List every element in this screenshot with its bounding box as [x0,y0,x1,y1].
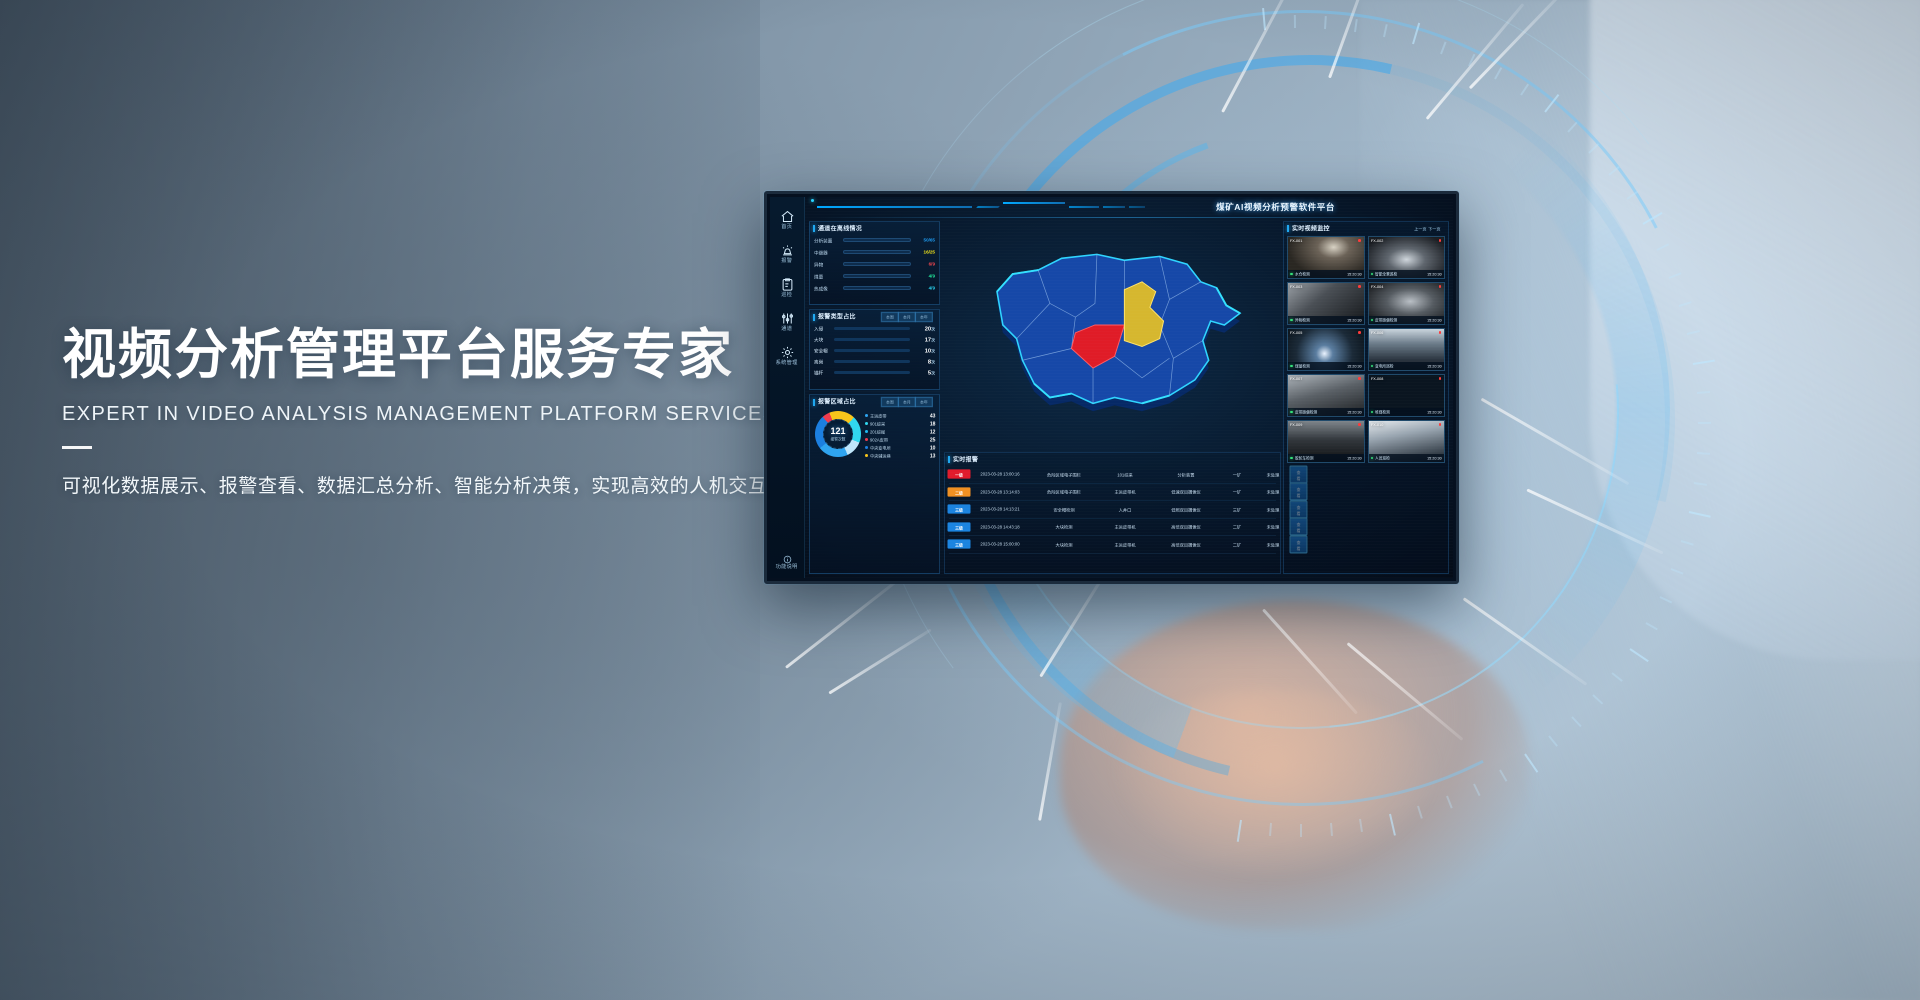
tab-year[interactable]: 本年 [915,312,933,322]
channel-progress-track [843,262,911,266]
camera-name: FX-003 [1290,284,1302,289]
alarm-type-title: 报警类型占比 [818,313,856,322]
channel-panel-header: 通道在离线情况 [810,222,939,234]
alarm-area-chart: 121 报警次数 主运皮带43901综采18201综掘12902A皮带25中央变… [810,408,939,458]
next-page-button[interactable]: 下一页 [1429,225,1441,232]
dashboard-main: 煤矿AI视频分析预警软件平台 通道在离线情况 分析装置50/65中继器16/25… [805,197,1453,578]
alarm-area-panel: 报警区域占比 本周 本月 本年 121 报警次数 主运皮带43901综采18 [809,394,940,574]
realtime-alarm-header: 实时报警 [945,453,1280,465]
camera-tile[interactable]: FX-006变电所巡检15:20:30 [1368,328,1446,371]
alarm-type-row: 大块17次 [810,334,939,345]
panel-accent-bar [1287,225,1289,232]
sidebar-item-alarm[interactable]: 报警 [780,243,795,264]
table-row: 三级2023-03-28 14:13:21安全帽检测入井口低照双目摄像仪三矿未处… [949,501,1276,519]
camera-tile[interactable]: FX-002智能全景巡检15:20:30 [1368,236,1446,279]
channel-status-panel: 通道在离线情况 分析装置50/65中继器16/25异物6/9煤量4/9热成像4/… [809,221,940,305]
legend-color-dot [865,446,868,449]
table-row: 三级2023-03-28 15:00:00大块检测主运皮带机高倍双目摄像仪二矿未… [949,536,1276,554]
sidebar-label-channel: 通道 [781,326,792,333]
channel-value: 16/25 [907,249,935,254]
tab-month[interactable]: 本月 [898,312,916,322]
online-status-icon [1371,411,1374,414]
record-indicator-icon [1358,331,1361,334]
hero-divider [62,446,92,449]
alarm-type-row: 离岗8次 [810,356,939,367]
alarm-type-row: 锚杆5次 [810,367,939,378]
online-status-icon [1371,319,1374,322]
channel-row: 分析装置50/65 [810,234,939,246]
legend-value: 43 [929,412,935,418]
alarm-type-progress-track [834,360,910,363]
legend-item: 902A皮带25 [865,436,935,442]
sidebar-item-system[interactable]: 系统管理 [779,345,794,366]
camera-name: FX-005 [1290,330,1302,335]
camera-name: FX-004 [1371,284,1383,289]
alarm-area-header: 报警区域占比 本周 本月 本年 [810,395,939,408]
sidebar-label-system: 系统管理 [776,360,798,367]
hero-description: 可视化数据展示、报警查看、数据汇总分析、智能分析决策，实现高效的人机交互 [62,471,782,498]
camera-timestamp: 15:20:30 [1347,410,1362,415]
info-icon [783,555,792,564]
sidebar-item-channel[interactable]: 通道 [780,311,795,332]
tab-year[interactable]: 本年 [915,397,933,407]
camera-label: 堆煤检测 [1375,409,1390,414]
legend-color-dot [865,438,868,441]
panel-accent-bar [813,225,815,232]
alarm-type-row: 入侵20次 [810,323,939,334]
channel-rows: 分析装置50/65中继器16/25异物6/9煤量4/9热成像4/9 [810,234,939,294]
camera-timestamp: 15:20:30 [1427,410,1442,415]
online-status-icon [1290,365,1293,368]
alarm-table: 一级2023-03-28 13:00:16危险区域电子围栏101综采分析装置一矿… [945,465,1280,554]
camera-tile[interactable]: FX-004皮带跑偏检测15:20:30 [1368,282,1446,325]
realtime-alarm-title: 实时报警 [953,455,978,464]
alarm-area-title: 报警区域占比 [818,398,856,407]
app-title: 煤矿AI视频分析预警软件平台 [1216,201,1335,213]
dashboard-monitor: 首页 报警 巡检 通道 系统管理 [764,191,1459,584]
camera-tile[interactable]: FX-003异物检测15:20:30 [1287,282,1365,325]
alarm-type-progress-track [834,349,910,352]
prev-page-button[interactable]: 上一页 [1414,225,1426,232]
sidebar-item-inspection[interactable]: 巡检 [780,277,795,298]
sidebar-label-home: 首页 [781,224,792,231]
camera-timestamp: 15:20:30 [1347,456,1362,461]
camera-timestamp: 15:20:30 [1427,318,1442,323]
channel-value: 6/9 [907,261,935,266]
online-status-icon [1290,273,1293,276]
dashboard-sidebar: 首页 报警 巡检 通道 系统管理 [770,197,805,578]
camera-tile[interactable]: FX-001水仓检测15:20:30 [1287,236,1365,279]
tab-week[interactable]: 本周 [881,397,899,407]
video-monitor-panel: 实时视频监控 上一页 下一页 FX-001水仓检测15:20:30FX-002智… [1283,221,1449,574]
camera-label: 皮带跑偏检测 [1375,317,1397,322]
legend-item: 901综采18 [865,420,935,426]
online-status-icon [1290,457,1293,460]
alarm-type-value: 20次 [906,325,935,332]
camera-name: FX-006 [1371,330,1383,335]
panel-accent-bar [948,456,950,463]
sidebar-label-alarm: 报警 [781,258,792,265]
donut-total-value: 121 [830,427,845,436]
record-indicator-icon [1358,285,1361,288]
camera-timestamp: 15:20:30 [1427,456,1442,461]
record-indicator-icon [1358,377,1361,380]
sidebar-item-home[interactable]: 首页 [780,209,795,230]
camera-footer: 皮带跑偏检测15:20:30 [1369,316,1445,324]
home-icon [780,209,795,224]
channel-value: 4/9 [907,273,935,278]
camera-footer: 异物检测15:20:30 [1288,316,1364,324]
tab-week[interactable]: 本周 [881,312,899,322]
alarm-type-panel: 报警类型占比 本周 本月 本年 入侵20次大块17次安全帽10次离岗8次锚杆5次 [809,309,940,390]
camera-name: FX-010 [1371,422,1383,427]
camera-name: FX-002 [1371,238,1383,243]
alarm-type-row: 安全帽10次 [810,345,939,356]
realtime-alarm-panel: 实时报警 一级2023-03-28 13:00:16危险区域电子围栏101综采分… [944,452,1281,574]
alarm-type-label: 大块 [814,336,837,343]
record-indicator-icon [1439,239,1442,242]
sidebar-label-inspection: 巡检 [781,292,792,299]
camera-footer: 煤量检测15:20:30 [1288,362,1364,370]
camera-name: FX-008 [1371,376,1383,381]
camera-label: 皮带跑偏检测 [1295,409,1317,414]
camera-footer: 胶轮车检测15:20:30 [1288,454,1364,462]
camera-name: FX-009 [1290,422,1302,427]
panel-accent-bar [813,399,815,406]
donut-chart: 121 报警次数 [815,411,861,457]
camera-tile[interactable]: FX-010人员巡检15:20:30 [1368,420,1446,463]
channel-value: 4/9 [907,285,935,290]
record-indicator-icon [1439,423,1442,426]
legend-color-dot [865,414,868,417]
channel-progress-track [843,238,911,242]
gear-icon [780,345,795,360]
camera-name: FX-001 [1290,238,1302,243]
camera-footer: 人员巡检15:20:30 [1369,454,1445,462]
legend-color-dot [865,430,868,433]
legend-color-dot [865,422,868,425]
legend-item: 主运皮带43 [865,412,935,418]
camera-label: 变电所巡检 [1375,363,1394,368]
camera-footer: 皮带跑偏检测15:20:30 [1288,408,1364,416]
sidebar-item-info[interactable]: 功能说明 [770,555,804,570]
alarm-type-value: 5次 [906,369,935,376]
center-column: 实时报警 一级2023-03-28 13:00:16危险区域电子围栏101综采分… [944,221,1281,574]
alarm-type-rows: 入侵20次大块17次安全帽10次离岗8次锚杆5次 [810,323,939,378]
channel-progress-track [843,286,911,290]
alarm-type-label: 入侵 [814,325,837,332]
camera-footer: 智能全景巡检15:20:30 [1369,270,1445,278]
record-indicator-icon [1439,377,1442,380]
online-status-icon [1290,319,1293,322]
video-panel-title: 实时视频监控 [1292,224,1330,233]
camera-timestamp: 15:20:30 [1347,318,1362,323]
camera-label: 水仓检测 [1295,271,1310,276]
alarm-area-tabs: 本周 本月 本年 [885,398,935,406]
hero-text-block: 视频分析管理平台服务专家 EXPERT IN VIDEO ANALYSIS MA… [62,325,782,498]
video-pagination: 上一页 下一页 [1417,226,1444,231]
tab-month[interactable]: 本月 [898,397,916,407]
alarm-type-value: 8次 [906,358,935,365]
channel-row: 中继器16/25 [810,246,939,258]
record-indicator-icon [1439,331,1442,334]
channel-progress-track [843,250,911,254]
legend-color-dot [865,454,868,457]
camera-tile[interactable]: FX-005煤量检测15:20:30 [1287,328,1365,371]
alarm-type-tabs: 本周 本月 本年 [885,313,935,321]
donut-legend: 主运皮带43901综采18201综掘12902A皮带25中央变电所10中央辅运巷… [865,410,935,458]
camera-timestamp: 15:20:30 [1427,364,1442,369]
legend-item: 201综掘12 [865,428,935,434]
legend-value: 18 [929,420,935,426]
alarm-type-label: 离岗 [814,358,837,365]
legend-value: 10 [929,444,935,450]
channel-progress-track [843,274,911,278]
camera-timestamp: 15:20:30 [1427,272,1442,277]
online-status-icon [1371,457,1374,460]
alarm-type-label: 安全帽 [814,347,837,354]
donut-center: 121 报警次数 [815,411,861,457]
topbar-dot [811,199,814,202]
channel-row: 热成像4/9 [810,282,939,294]
camera-tile[interactable]: FX-009胶轮车检测15:20:30 [1287,420,1365,463]
camera-label: 煤量检测 [1295,363,1310,368]
camera-timestamp: 15:20:30 [1347,364,1362,369]
left-column: 通道在离线情况 分析装置50/65中继器16/25异物6/9煤量4/9热成像4/… [809,221,940,574]
dashboard-screen: 首页 报警 巡检 通道 系统管理 [770,197,1453,578]
online-status-icon [1371,365,1374,368]
camera-grid: FX-001水仓检测15:20:30FX-002智能全景巡检15:20:30FX… [1284,234,1448,465]
record-indicator-icon [1358,239,1361,242]
channel-row: 煤量4/9 [810,270,939,282]
record-indicator-icon [1358,423,1361,426]
hero-subtitle: EXPERT IN VIDEO ANALYSIS MANAGEMENT PLAT… [62,403,782,426]
online-status-icon [1371,273,1374,276]
donut-total-label: 报警次数 [830,437,845,442]
panel-accent-bar [813,314,815,321]
table-row: 一级2023-03-28 13:00:16危险区域电子围栏101综采分析装置一矿… [949,466,1276,484]
alarm-type-value: 17次 [906,336,935,343]
camera-name: FX-007 [1290,376,1302,381]
alarm-type-progress-track [834,371,910,374]
record-indicator-icon [1439,285,1442,288]
legend-item: 中央辅运巷13 [865,452,935,458]
table-row: 二级2023-03-28 13:14:03危险区域电子围栏主运皮带机低速双目摄像… [949,484,1276,502]
page-title: 视频分析管理平台服务专家 [62,325,782,385]
channel-row: 异物6/9 [810,258,939,270]
clipboard-icon [780,277,795,292]
legend-value: 25 [929,436,935,442]
camera-footer: 变电所巡检15:20:30 [1369,362,1445,370]
legend-item: 中央变电所10 [865,444,935,450]
province-map[interactable] [950,225,1287,421]
camera-label: 胶轮车检测 [1295,455,1314,460]
channel-value: 50/65 [907,237,935,242]
alarm-type-progress-track [834,338,910,341]
camera-footer: 堆煤检测15:20:30 [1369,408,1445,416]
alarm-type-header: 报警类型占比 本周 本月 本年 [810,310,939,323]
sliders-icon [780,311,795,326]
table-row: 三级2023-03-28 14:43:18大块检测主运皮带机高倍双目摄像仪二矿未… [949,519,1276,537]
map-container[interactable] [944,221,1281,417]
camera-label: 异物检测 [1295,317,1310,322]
camera-label: 智能全景巡检 [1375,271,1397,276]
alarm-type-progress-track [834,327,910,330]
legend-value: 12 [929,428,935,434]
camera-tile[interactable]: FX-007皮带跑偏检测15:20:30 [1287,374,1365,417]
online-status-icon [1290,411,1293,414]
dashboard-topbar: 煤矿AI视频分析预警软件平台 [805,197,1453,221]
alarm-type-value: 10次 [906,347,935,354]
alarm-icon [780,243,795,258]
camera-timestamp: 15:20:30 [1347,272,1362,277]
channel-panel-title: 通道在离线情况 [818,224,862,233]
legend-value: 13 [929,452,935,458]
camera-label: 人员巡检 [1375,455,1390,460]
video-panel-header: 实时视频监控 上一页 下一页 [1284,222,1448,234]
sidebar-label-info: 功能说明 [776,564,798,571]
camera-tile[interactable]: FX-008堆煤检测15:20:30 [1368,374,1446,417]
alarm-type-label: 锚杆 [814,369,837,376]
camera-footer: 水仓检测15:20:30 [1288,270,1364,278]
